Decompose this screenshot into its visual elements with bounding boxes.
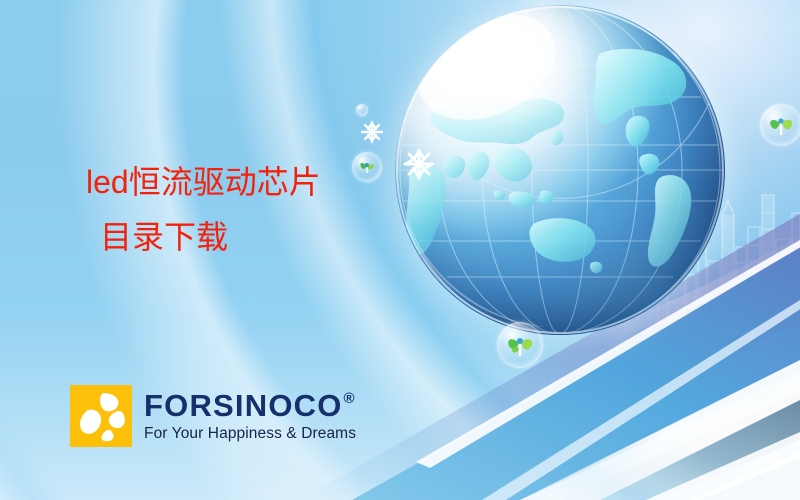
promo-banner: led恒流驱动芯片 目录下载 FORSINOCO® For Your Happi… [0, 0, 800, 500]
bubble-plain-tiny [356, 104, 368, 116]
headline-line-1: led恒流驱动芯片 [86, 160, 506, 205]
headline-line-2: 目录下载 [86, 215, 506, 260]
green-sprout-icon [497, 322, 543, 368]
logo-tagline: For Your Happiness & Dreams [144, 425, 356, 442]
registered-trademark-icon: ® [344, 391, 356, 406]
headline-cjk-suffix: 恒流驱动芯片 [129, 163, 321, 201]
logo-company-name: FORSINOCO® [144, 390, 356, 421]
forsinoco-logo[interactable]: FORSINOCO® For Your Happiness & Dreams [70, 385, 356, 447]
headline-text: led恒流驱动芯片 目录下载 [86, 160, 506, 261]
bubble-sprout-right-edge [760, 104, 800, 146]
logo-company-name-text: FORSINOCO [144, 390, 343, 421]
green-sprout-icon [760, 104, 800, 146]
logo-wordmark: FORSINOCO® For Your Happiness & Dreams [144, 390, 356, 442]
forsinoco-pinwheel-mark [70, 385, 132, 447]
bubble-sprout-large-center [497, 322, 543, 368]
headline-latin-prefix: led [86, 164, 129, 200]
pinwheel-icon [70, 385, 132, 447]
snowflake-small-icon [360, 120, 384, 144]
